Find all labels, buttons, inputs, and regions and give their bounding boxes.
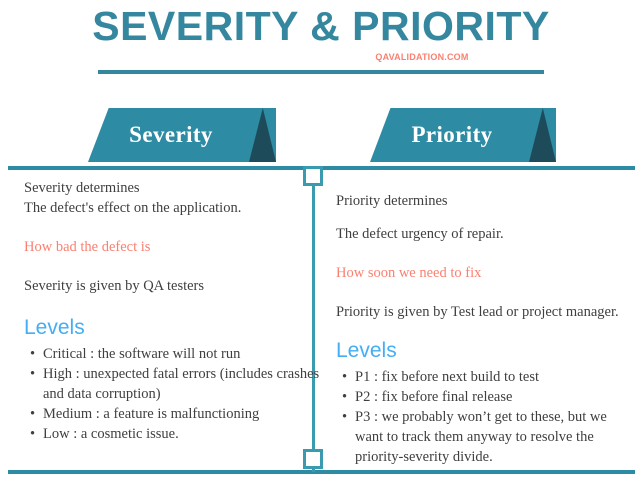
severity-levels-list: Critical : the software will not run Hig… [24,344,324,444]
list-item: P2 : fix before final release [355,387,636,407]
priority-owner-line: Priority is given by Test lead or projec… [336,302,636,322]
severity-accent-line: How bad the defect is [24,237,324,257]
priority-definition-line1: Priority determines [336,178,636,211]
priority-levels-list: P1 : fix before next build to test P2 : … [336,367,636,467]
column-severity: Severity determines The defect's effect … [24,178,324,444]
page-title: SEVERITY & PRIORITY [0,2,642,50]
infographic-canvas: SEVERITY & PRIORITY QAVALIDATION.COM Sev… [0,0,642,481]
bottom-horizontal-rule [8,470,635,474]
banner-priority: Priority [370,108,556,162]
list-item: Critical : the software will not run [43,344,324,364]
banner-priority-label: Priority [359,108,545,162]
list-item: P1 : fix before next build to test [355,367,636,387]
list-item: Low : a cosmetic issue. [43,424,324,444]
banner-severity-label: Severity [77,108,265,162]
severity-owner-line: Severity is given by QA testers [24,276,324,296]
divider-node-bottom-square [303,449,323,469]
list-item: High : unexpected fatal errors (includes… [43,364,324,404]
priority-accent-line: How soon we need to fix [336,263,636,283]
list-item: Medium : a feature is malfunctioning [43,404,324,424]
severity-levels-heading: Levels [24,315,324,341]
title-underline-rule [98,70,544,74]
severity-definition-line1: Severity determines [24,178,324,198]
list-item: P3 : we probably won’t get to these, but… [355,407,636,467]
banner-severity: Severity [88,108,276,162]
site-credit: QAVALIDATION.COM [101,52,642,62]
priority-definition-line2: The defect urgency of repair. [336,211,636,244]
priority-levels-heading: Levels [336,338,636,364]
severity-definition-line2: The defect's effect on the application. [24,198,324,218]
column-priority: Priority determines The defect urgency o… [336,178,636,467]
